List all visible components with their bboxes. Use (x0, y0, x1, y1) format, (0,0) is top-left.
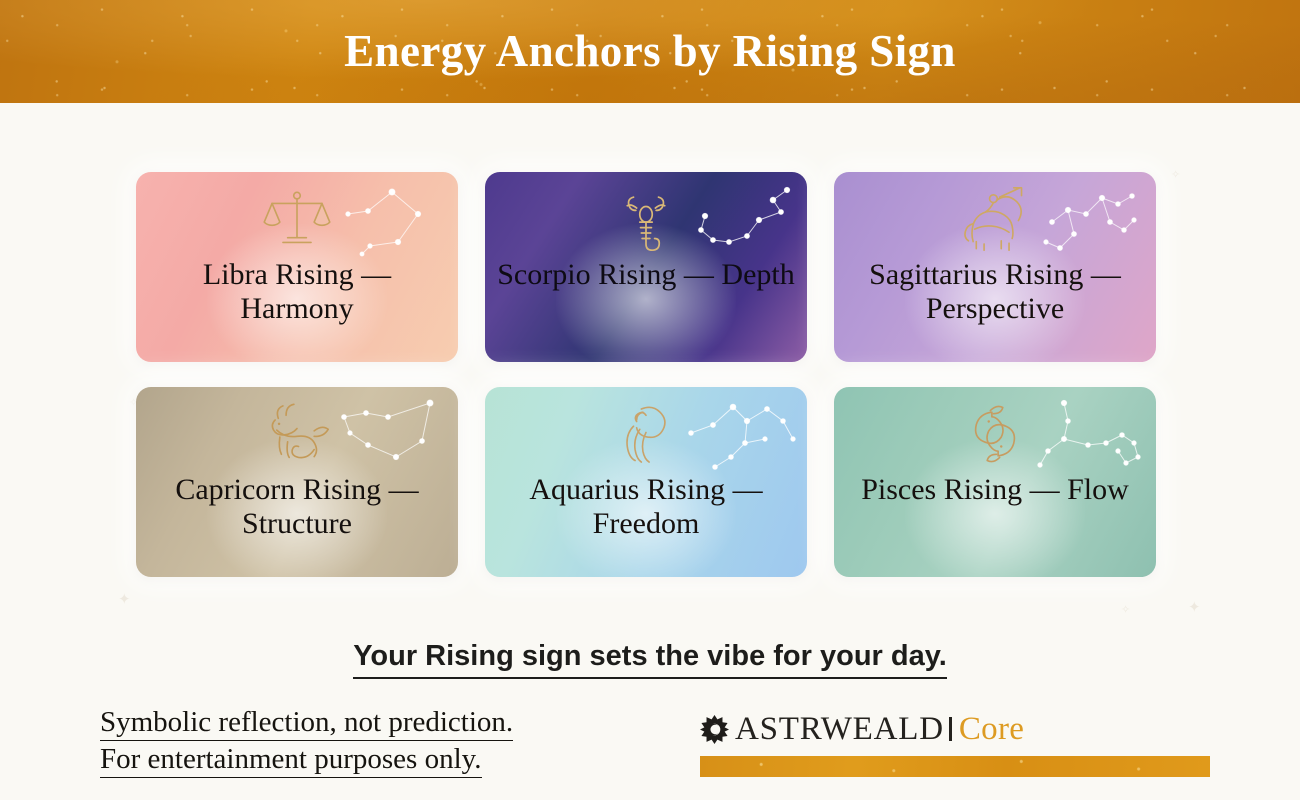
tagline-text: Your Rising sign sets the vibe for your … (353, 640, 947, 679)
card-row-top: Libra Rising — Harmony (136, 172, 1156, 362)
sign-card-label: Scorpio Rising — Depth (497, 258, 795, 292)
sagittarius-archer-icon (956, 180, 1034, 258)
sparkle-icon: ✧ (1121, 605, 1130, 616)
tagline: Your Rising sign sets the vibe for your … (0, 640, 1300, 673)
brand-row: ASTRWEALD Core (700, 707, 1212, 751)
sparkle-icon: ✦ (1188, 601, 1201, 616)
aquarius-waterbearer-icon (607, 395, 685, 473)
card-row-bottom: Capricorn Rising — Structure (136, 387, 1156, 577)
disclaimer-line-1: Symbolic reflection, not prediction. (100, 706, 513, 741)
sign-card-label: Capricorn Rising — Structure (148, 473, 446, 540)
sign-card-label: Sagittarius Rising — Perspective (846, 258, 1144, 325)
sparkle-icon: ✦ (118, 593, 131, 608)
sign-card-aquarius[interactable]: Aquarius Rising — Freedom (485, 387, 807, 577)
pisces-fishes-icon (956, 395, 1034, 473)
sun-moon-starburst-icon (700, 715, 729, 744)
capricorn-seagoat-icon (258, 395, 336, 473)
libra-scales-icon (258, 180, 336, 258)
disclaimer-line-2: For entertainment purposes only. (100, 743, 482, 778)
sign-card-scorpio[interactable]: Scorpio Rising — Depth (485, 172, 807, 362)
scorpio-constellation-icon (685, 180, 797, 270)
sign-card-grid: Libra Rising — Harmony (136, 172, 1156, 577)
pisces-constellation-icon (1034, 395, 1146, 485)
sign-card-label: Aquarius Rising — Freedom (497, 473, 795, 540)
sign-card-label: Libra Rising — Harmony (148, 258, 446, 325)
page-title: Energy Anchors by Rising Sign (0, 0, 1300, 103)
brand-lockup: ASTRWEALD Core (700, 707, 1212, 777)
capricorn-constellation-icon (336, 395, 448, 485)
sign-card-libra[interactable]: Libra Rising — Harmony (136, 172, 458, 362)
brand-accent-bar (700, 756, 1210, 777)
header-banner: Energy Anchors by Rising Sign (0, 0, 1300, 103)
scorpio-scorpion-icon (607, 180, 685, 258)
sign-card-label: Pisces Rising — Flow (846, 473, 1144, 507)
sign-card-pisces[interactable]: Pisces Rising — Flow (834, 387, 1156, 577)
aquarius-constellation-icon (685, 395, 797, 485)
brand-suffix: Core (959, 711, 1024, 748)
disclaimer: Symbolic reflection, not prediction. For… (100, 706, 513, 778)
brand-divider (949, 717, 952, 741)
sign-card-sagittarius[interactable]: Sagittarius Rising — Perspective (834, 172, 1156, 362)
libra-constellation-icon (336, 180, 448, 270)
sparkle-icon: ✧ (1171, 170, 1180, 181)
brand-name: ASTRWEALD (735, 711, 944, 748)
sign-card-capricorn[interactable]: Capricorn Rising — Structure (136, 387, 458, 577)
sagittarius-constellation-icon (1034, 180, 1146, 270)
